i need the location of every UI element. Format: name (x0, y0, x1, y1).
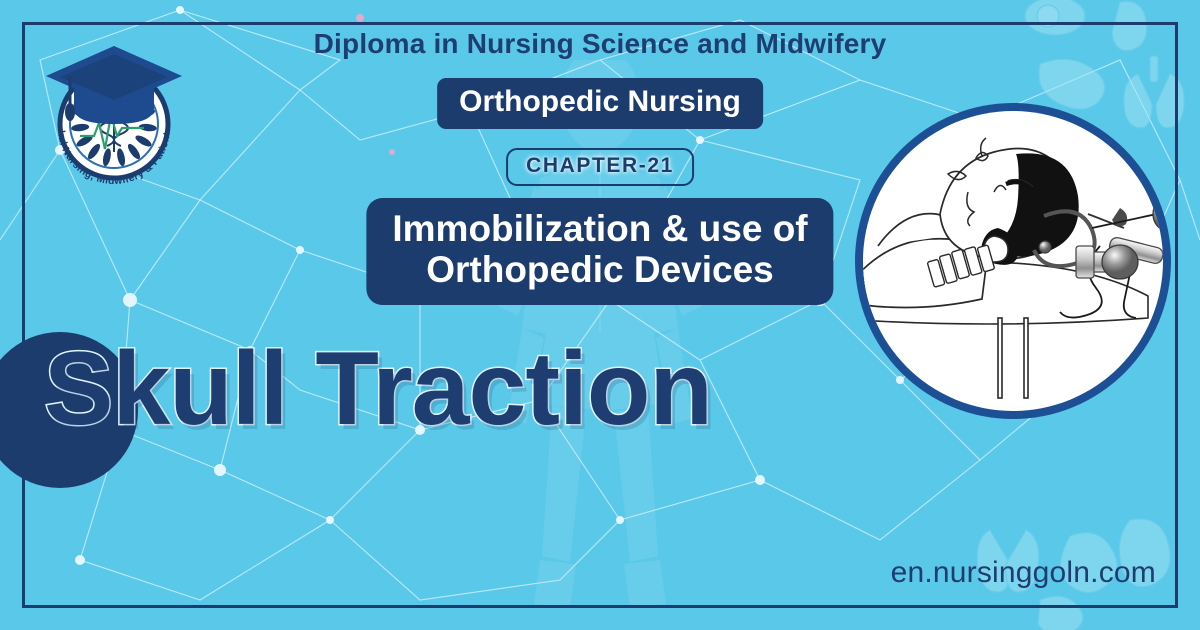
site-url: en.nursinggoln.com (891, 556, 1156, 590)
institution-logo: Gurukul Nursing, Midwifery & Patient Car… (36, 32, 192, 192)
hook-icon (1169, 326, 1178, 350)
topic-title-badge: Immobilization & use of Orthopedic Devic… (366, 198, 833, 305)
course-title-badge: Orthopedic Nursing (437, 78, 763, 129)
weight-stack (1150, 347, 1178, 426)
chapter-badge: CHAPTER-21 (506, 148, 694, 186)
page-title: Skull Traction (44, 330, 712, 449)
banner-canvas: Gurukul Nursing, Midwifery & Patient Car… (0, 0, 1200, 630)
pulley-knob (1102, 245, 1138, 279)
liver-organ-icon (1038, 596, 1083, 630)
tong-pin (1039, 241, 1051, 253)
topic-title-line-1: Immobilization & use of (392, 208, 807, 249)
pink-accent-dot-icon (356, 14, 364, 22)
topic-title-line-2: Orthopedic Devices (392, 249, 807, 290)
skull-traction-illustration (848, 96, 1178, 426)
